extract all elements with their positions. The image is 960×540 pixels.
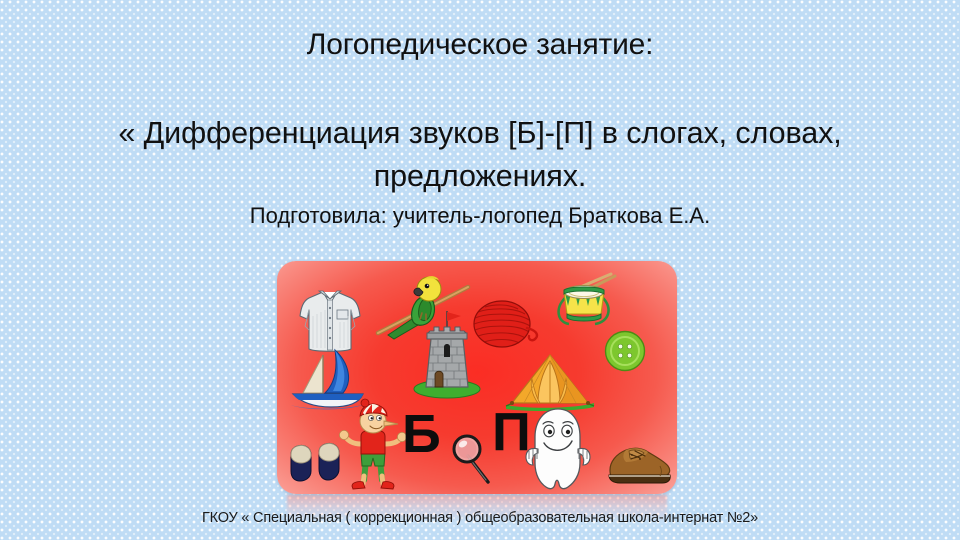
illustration-card: Б П bbox=[277, 261, 677, 494]
ghost-icon bbox=[522, 407, 594, 493]
slippers-icon bbox=[289, 437, 341, 483]
button-icon bbox=[604, 330, 646, 372]
slide-author-line: Подготовила: учитель-логопед Браткова Е.… bbox=[60, 203, 900, 229]
magnifier-icon bbox=[451, 434, 495, 488]
sailboat-icon bbox=[291, 347, 369, 411]
boot-icon bbox=[602, 442, 672, 486]
slide-footer: ГКОУ « Специальная ( коррекционная ) общ… bbox=[0, 510, 960, 526]
buratino-icon bbox=[339, 404, 407, 492]
letter-b: Б bbox=[402, 407, 441, 461]
yarn-ball-icon bbox=[473, 300, 543, 352]
slide-main-title: « Дифференциация звуков [Б]-[П] в слогах… bbox=[45, 112, 915, 199]
slide-headline: Логопедическое занятие: bbox=[40, 26, 920, 64]
slide-canvas: Логопедическое занятие: « Дифференциация… bbox=[0, 0, 960, 540]
drum-icon bbox=[553, 272, 625, 336]
shirt-icon bbox=[299, 286, 361, 354]
